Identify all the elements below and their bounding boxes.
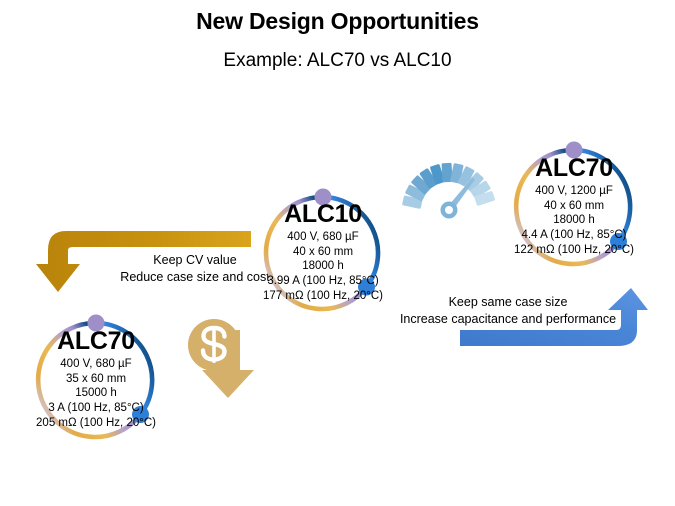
- capacitor-circle-top-right: ALC70 400 V, 1200 µF 40 x 60 mm 18000 h …: [514, 147, 634, 267]
- capacitor-spec: 15000 h: [75, 386, 117, 401]
- capacitor-spec: 122 mΩ (100 Hz, 20°C): [514, 243, 634, 258]
- page-subtitle: Example: ALC70 vs ALC10: [0, 50, 675, 72]
- capacitor-spec: 400 V, 1200 µF: [535, 184, 613, 199]
- capacitor-circle-middle: ALC10 400 V, 680 µF 40 x 60 mm 18000 h 3…: [264, 194, 382, 312]
- capacitor-spec: 177 mΩ (100 Hz, 20°C): [263, 289, 383, 304]
- increase-cap-line2: Increase capacitance and performance: [378, 311, 638, 328]
- capacitor-spec: 40 x 60 mm: [544, 199, 604, 214]
- capacitor-spec: 4.4 A (100 Hz, 85°C): [522, 228, 627, 243]
- capacitor-spec: 400 V, 680 µF: [60, 357, 131, 372]
- capacitor-spec: 3.99 A (100 Hz, 85°C): [267, 274, 378, 289]
- capacitor-name: ALC10: [284, 202, 362, 228]
- increase-capacitance-arrow-label: Keep same case size Increase capacitance…: [378, 294, 638, 328]
- speedometer-icon: [402, 152, 496, 220]
- page-title: New Design Opportunities: [0, 8, 675, 35]
- capacitor-spec: 35 x 60 mm: [66, 372, 126, 387]
- slide-canvas: New Design Opportunities Example: ALC70 …: [0, 0, 675, 506]
- capacitor-spec: 400 V, 680 µF: [287, 230, 358, 245]
- capacitor-circle-bottom-left: ALC70 400 V, 680 µF 35 x 60 mm 15000 h 3…: [36, 320, 156, 440]
- capacitor-spec: 205 mΩ (100 Hz, 20°C): [36, 416, 156, 431]
- capacitor-spec: 18000 h: [302, 259, 344, 274]
- capacitor-name: ALC70: [57, 329, 135, 355]
- dollar-down-arrow-icon: [184, 312, 260, 400]
- capacitor-name: ALC70: [535, 156, 613, 182]
- increase-cap-line1: Keep same case size: [378, 294, 638, 311]
- capacitor-spec: 3 A (100 Hz, 85°C): [48, 401, 143, 416]
- capacitor-spec: 18000 h: [553, 213, 595, 228]
- capacitor-spec: 40 x 60 mm: [293, 245, 353, 260]
